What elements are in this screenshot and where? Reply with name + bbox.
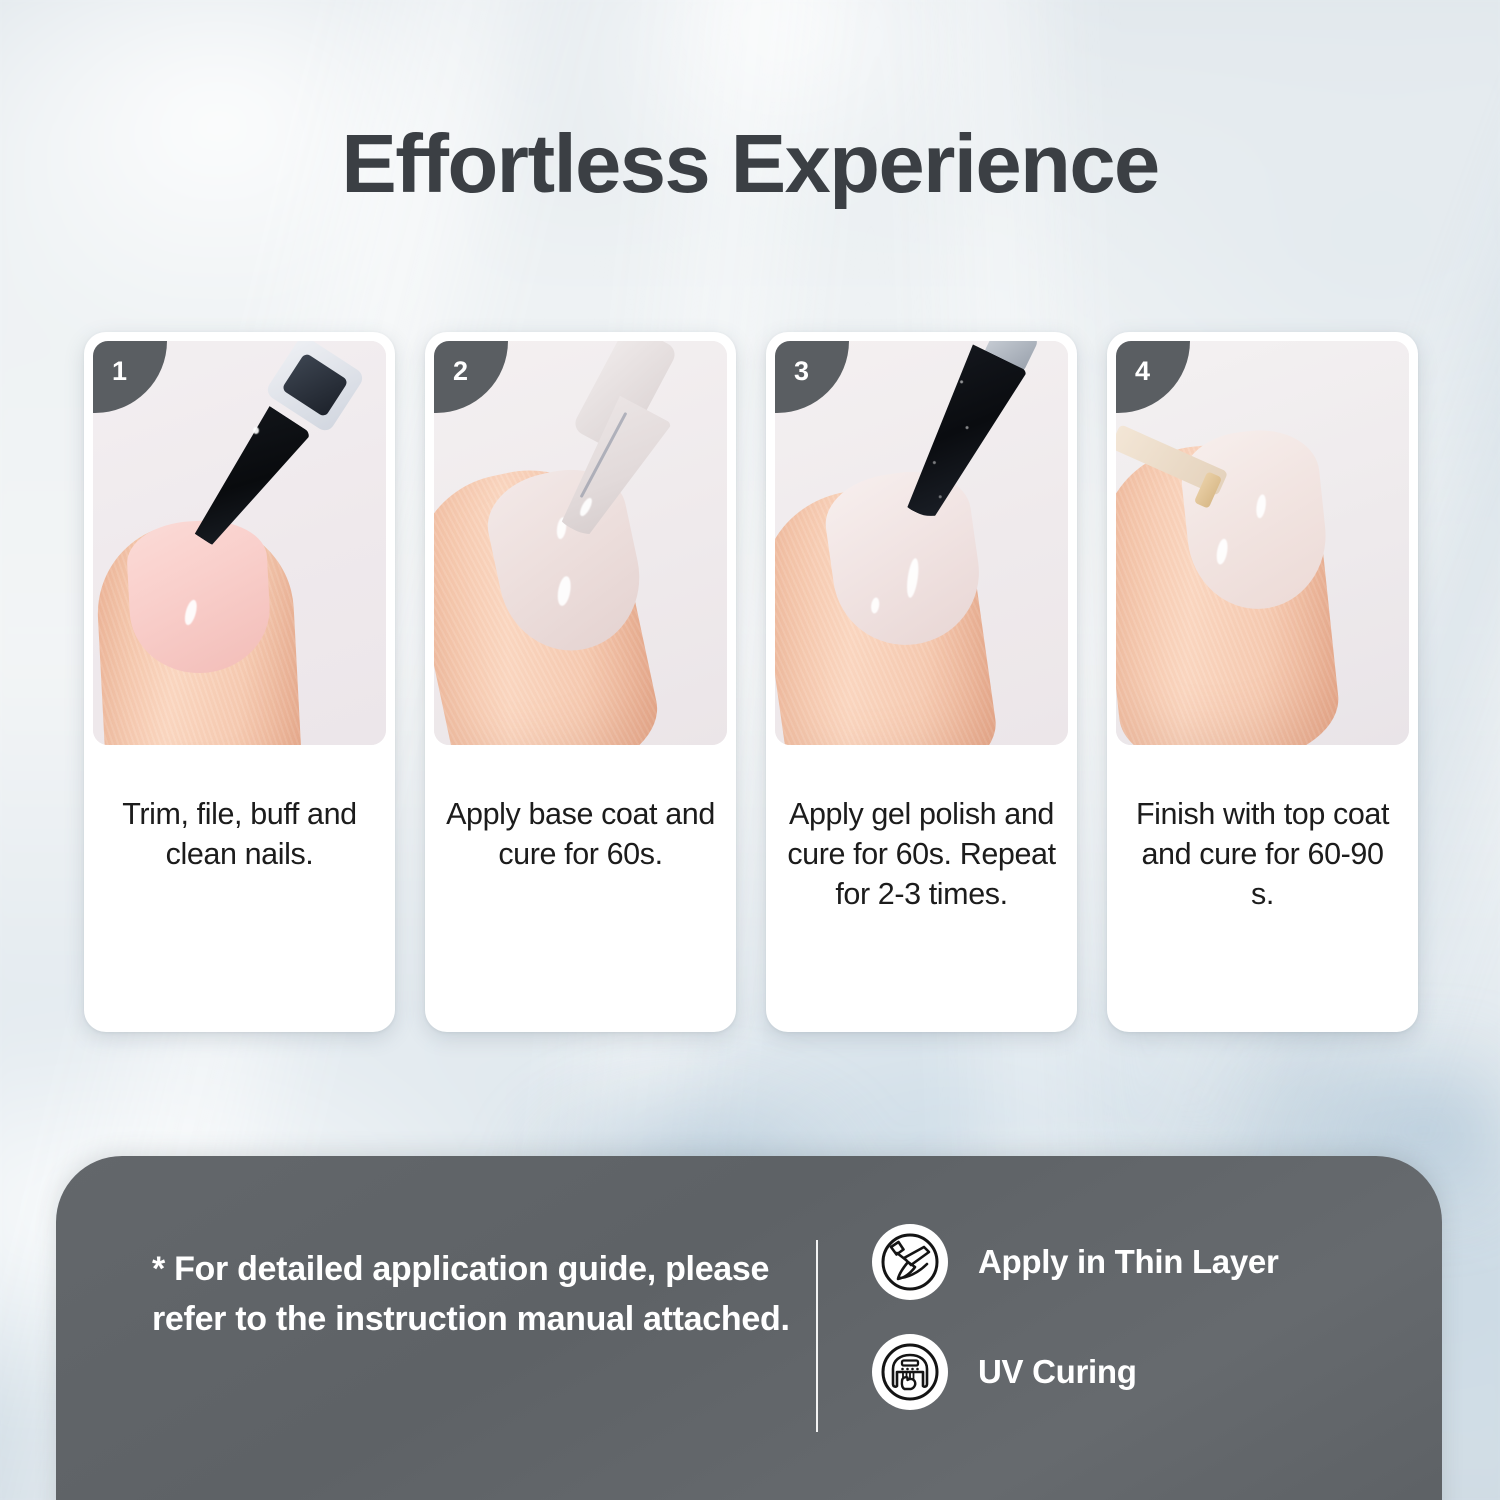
- step-caption-4: Finish with top coat and cure for 60-90 …: [1116, 745, 1409, 1032]
- infographic-page: Effortless Experience: [0, 0, 1500, 1500]
- step-photo-1-scene: [93, 341, 386, 745]
- feature-thin-layer-label: Apply in Thin Layer: [978, 1243, 1279, 1281]
- feature-uv-curing-label: UV Curing: [978, 1353, 1137, 1391]
- thin-layer-brush-icon: [872, 1224, 948, 1300]
- step-card-4: 4 Finish with top coat and cure for 60-9…: [1107, 332, 1418, 1032]
- feature-uv-curing: UV Curing: [872, 1334, 1279, 1410]
- footer-features: Apply in Thin Layer: [818, 1156, 1279, 1410]
- step-caption-2: Apply base coat and cure for 60s.: [434, 745, 727, 1032]
- feature-thin-layer: Apply in Thin Layer: [872, 1224, 1279, 1300]
- step-card-1: 1 Trim, file, buff and clean nails.: [84, 332, 395, 1032]
- footer-note: * For detailed application guide, please…: [56, 1156, 816, 1345]
- step-photo-3: 3: [775, 341, 1068, 745]
- step-caption-3: Apply gel polish and cure for 60s. Repea…: [775, 745, 1068, 1032]
- step-photo-4-scene: [1116, 341, 1409, 745]
- step-card-2: 2 Apply base coat and cure for 60s.: [425, 332, 736, 1032]
- step-photo-1: 1: [93, 341, 386, 745]
- step-card-3: 3 Apply gel polish and cure for 60s. Rep…: [766, 332, 1077, 1032]
- step-photo-2: 2: [434, 341, 727, 745]
- step-photo-3-scene: [775, 341, 1068, 745]
- uv-lamp-icon: [872, 1334, 948, 1410]
- step-photo-2-scene: [434, 341, 727, 745]
- step-photo-4: 4: [1116, 341, 1409, 745]
- footer-panel: * For detailed application guide, please…: [56, 1156, 1442, 1500]
- page-title: Effortless Experience: [0, 116, 1500, 212]
- step-caption-1: Trim, file, buff and clean nails.: [93, 745, 386, 1032]
- steps-row: 1 Trim, file, buff and clean nails.: [84, 332, 1420, 1032]
